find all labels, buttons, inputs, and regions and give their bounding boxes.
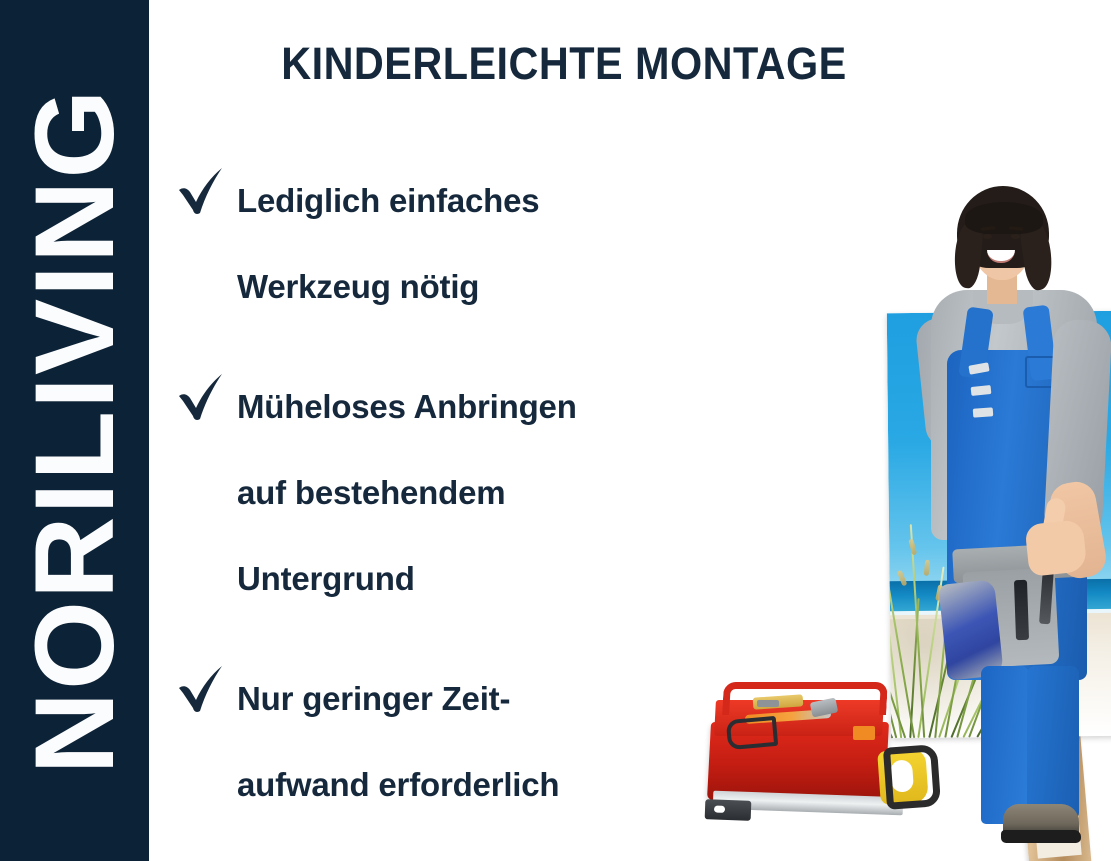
worker-leg-right: [1027, 666, 1079, 818]
worker-eye-left: [983, 234, 992, 239]
brand-sidebar: NORILIVING: [0, 0, 149, 861]
brand-logo-wrapper: NORILIVING: [19, 94, 131, 767]
worker-thumbs-up-hand: [1024, 519, 1087, 577]
product-photo: [689, 150, 1111, 861]
check-icon: [175, 662, 227, 716]
benefit-line: Müheloses Anbringen: [237, 364, 735, 450]
list-item: Müheloses Anbringen auf bestehendem Unte…: [175, 364, 735, 622]
hand-saw-grip: [883, 744, 941, 810]
check-icon: [175, 370, 227, 424]
benefit-line: Nur geringer Zeit-: [237, 656, 735, 742]
benefit-list: Lediglich einfaches Werkzeug nötig Mühel…: [175, 158, 735, 828]
benefit-line: auf bestehendem: [237, 450, 735, 536]
belt-tool-pliers: [1014, 580, 1029, 640]
list-item-text: Müheloses Anbringen auf bestehendem Unte…: [237, 364, 735, 622]
content-area: KINDERLEICHTE MONTAGE Lediglich einfache…: [149, 0, 1111, 861]
worker-buckle: [973, 407, 994, 417]
benefit-line: Werkzeug nötig: [237, 244, 735, 330]
worker-fringe: [965, 202, 1043, 234]
worker-shoe-sole: [1001, 830, 1081, 843]
benefit-line: aufwand erforderlich: [237, 742, 735, 828]
hand-saw-tip: [705, 799, 752, 821]
brand-name: NORILIVING: [19, 87, 131, 774]
promo-banner: NORILIVING KINDERLEICHTE MONTAGE Ledigli…: [0, 0, 1111, 861]
toolbox-handle: [722, 682, 888, 715]
worker-leg-left: [981, 666, 1029, 824]
toolbox-latch: [853, 726, 875, 740]
list-item: Nur geringer Zeit- aufwand erforderlich: [175, 656, 735, 828]
list-item-text: Nur geringer Zeit- aufwand erforderlich: [237, 656, 735, 828]
benefit-line: Lediglich einfaches: [237, 158, 735, 244]
worker-woman: [907, 150, 1111, 861]
list-item-text: Lediglich einfaches Werkzeug nötig: [237, 158, 735, 330]
toolbox-pliers: [726, 716, 778, 750]
red-toolbox: [701, 670, 897, 810]
check-icon: [175, 164, 227, 218]
list-item: Lediglich einfaches Werkzeug nötig: [175, 158, 735, 330]
benefit-line: Untergrund: [237, 536, 735, 622]
page-title: KINDERLEICHTE MONTAGE: [182, 38, 946, 90]
worker-eye-right: [1011, 234, 1020, 239]
